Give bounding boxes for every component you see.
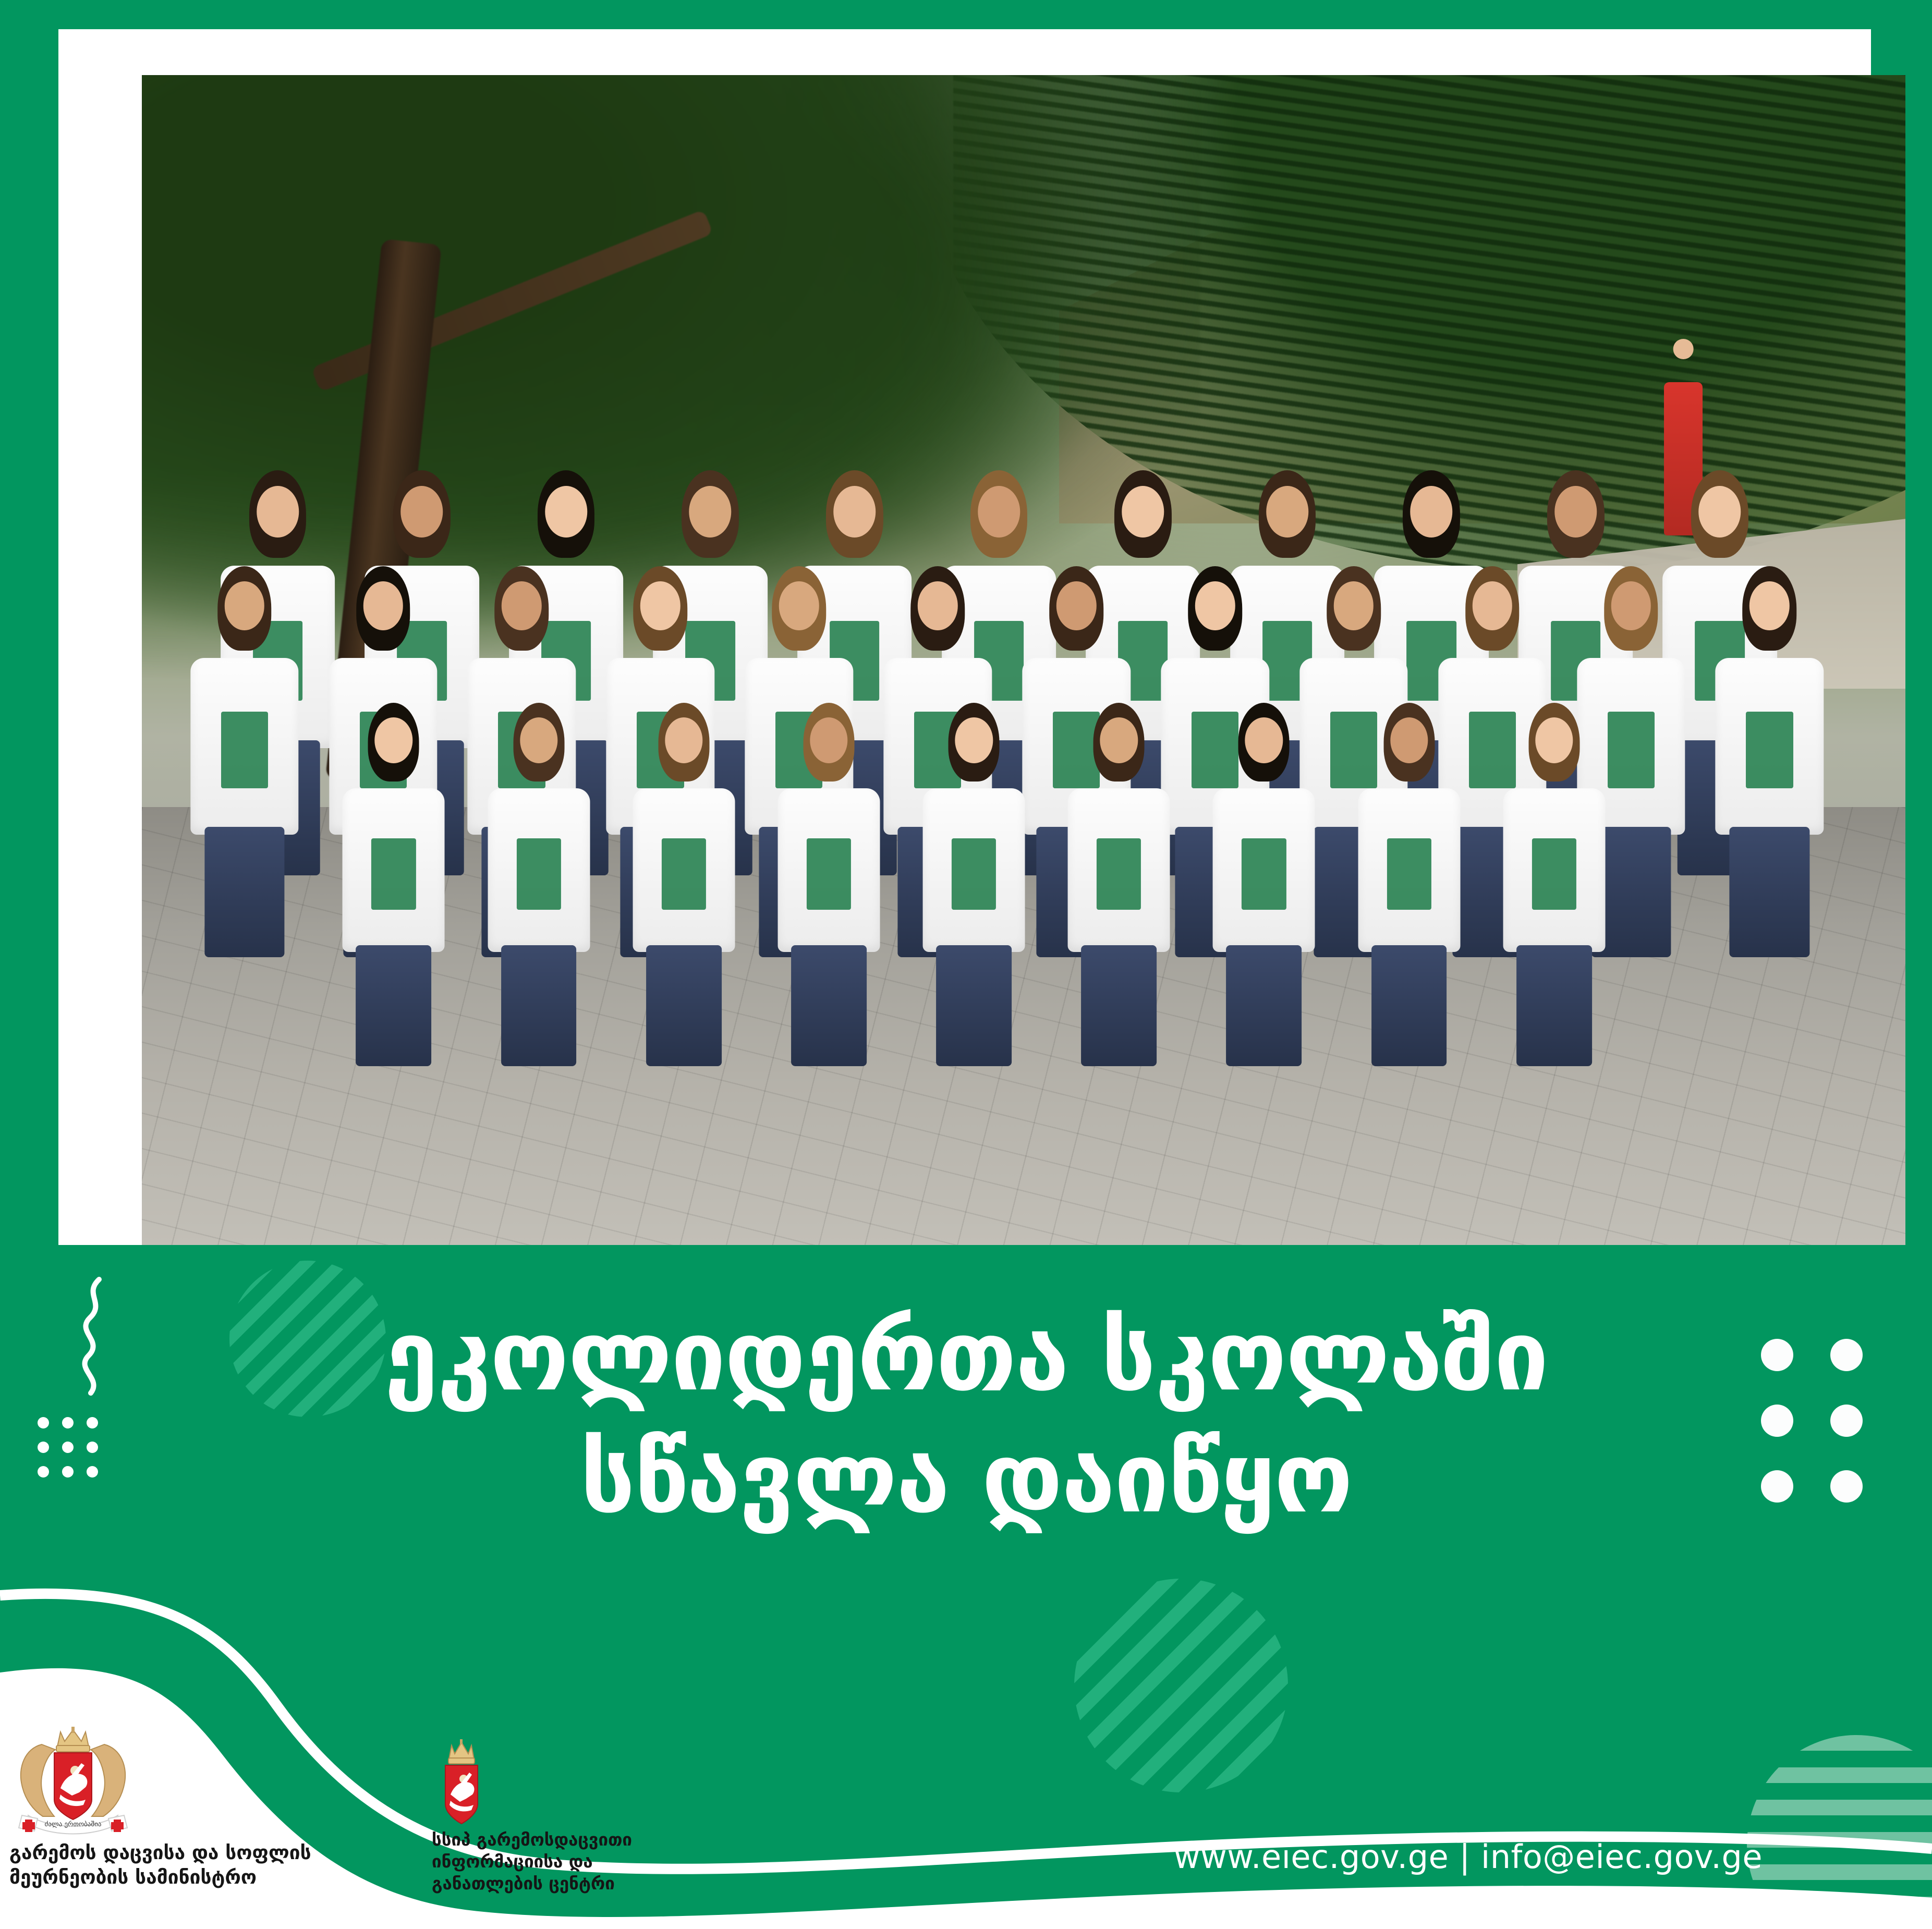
photo-tshirt-logo <box>221 712 268 788</box>
photo-tshirt-logo <box>952 838 996 910</box>
photo-student-legs <box>1081 945 1157 1066</box>
photo-student-legs <box>1371 945 1447 1066</box>
photo-student-head <box>1122 486 1164 538</box>
footer: ძალა ერთობაშია გარემოს დაცვისა და სოფლის… <box>0 1715 1932 1929</box>
photo-student-legs <box>1516 945 1592 1066</box>
photo-tshirt-logo <box>1387 838 1431 910</box>
photo-student-head <box>978 486 1020 538</box>
group-photo <box>142 75 1905 1255</box>
photo-student-head <box>955 717 992 763</box>
photo-student-legs <box>501 945 577 1066</box>
photo-student-head <box>833 486 876 538</box>
photo-student-head <box>1410 486 1452 538</box>
photo-tshirt-logo <box>371 838 416 910</box>
photo-student-head <box>1390 717 1428 763</box>
georgia-shield-emblem-icon <box>433 1737 490 1834</box>
photo-student <box>918 703 1029 1059</box>
title-line-2: სწავლა დაიწყო <box>0 1417 1932 1539</box>
svg-text:ძალა ერთობაშია: ძალა ერთობაშია <box>45 1821 102 1828</box>
photo-student-head <box>1749 581 1790 630</box>
photo-student <box>628 703 739 1059</box>
page-title: ეკოლიდერთა სკოლაში სწავლა დაიწყო <box>0 1295 1932 1540</box>
photo-student-legs <box>1226 945 1302 1066</box>
photo-student <box>338 703 449 1059</box>
photo-student-head <box>1699 486 1741 538</box>
photo-student <box>1499 703 1610 1059</box>
photo-tshirt-logo <box>517 838 561 910</box>
photo-student-head <box>1472 581 1512 630</box>
photo-student-head <box>257 486 299 538</box>
photo-student-legs <box>1730 827 1809 957</box>
photo-tshirt-logo <box>1608 712 1655 788</box>
photo-student-legs <box>936 945 1012 1066</box>
photo-tshirt-logo <box>807 838 851 910</box>
photo-student-head <box>1195 581 1235 630</box>
photo-student-head <box>502 581 542 630</box>
photo-student-legs <box>356 945 432 1066</box>
photo-student-head <box>810 717 847 763</box>
photo-tshirt-logo <box>1242 838 1286 910</box>
photo-tshirt-logo <box>662 838 706 910</box>
title-line-1: ეკოლიდერთა სკოლაში <box>0 1295 1932 1417</box>
photo-student-head <box>1554 486 1597 538</box>
photo-student-head <box>640 581 681 630</box>
ministry-name: გარემოს დაცვისა და სოფლის მეურნეობის სამ… <box>9 1840 406 1890</box>
contact-info: www.eiec.gov.ge | info@eiec.gov.ge <box>1174 1838 1763 1876</box>
photo-student-head <box>1535 717 1573 763</box>
photo-tshirt-logo <box>1097 838 1141 910</box>
photo-student <box>186 566 303 949</box>
photo-student <box>1711 566 1829 949</box>
photo-student-head <box>779 581 819 630</box>
photo-student <box>1063 703 1174 1059</box>
photo-student-head <box>520 717 557 763</box>
photo-student <box>773 703 884 1059</box>
photo-student-head <box>400 486 443 538</box>
photo-student-head <box>363 581 403 630</box>
center-name: სსიპ გარემოსდაცვითი ინფორმაციისა და განა… <box>432 1829 765 1895</box>
photo-student-head <box>224 581 264 630</box>
photo-student-legs <box>204 827 284 957</box>
photo-frame <box>58 29 1871 1245</box>
photo-student <box>483 703 594 1059</box>
photo-student-head <box>1611 581 1651 630</box>
photo-tshirt-logo <box>1532 838 1576 910</box>
photo-student-head <box>918 581 958 630</box>
photo-student-head <box>375 717 412 763</box>
photo-tshirt-logo <box>1746 712 1793 788</box>
photo-student-head <box>1056 581 1097 630</box>
photo-student-head <box>1266 486 1308 538</box>
photo-student-head <box>665 717 702 763</box>
poster-root: ეკოლიდერთა სკოლაში სწავლა დაიწყო <box>0 0 1932 1929</box>
photo-student-head <box>1245 717 1283 763</box>
photo-student-legs <box>646 945 722 1066</box>
photo-student-head <box>1334 581 1374 630</box>
photo-student-legs <box>791 945 867 1066</box>
photo-student <box>1354 703 1465 1059</box>
photo-student-head <box>545 486 587 538</box>
photo-student <box>1208 703 1319 1059</box>
photo-student-group <box>195 429 1852 1114</box>
photo-student-head <box>689 486 732 538</box>
photo-student-head <box>1100 717 1138 763</box>
georgia-coat-of-arms-icon: ძალა ერთობაშია <box>10 1727 136 1839</box>
